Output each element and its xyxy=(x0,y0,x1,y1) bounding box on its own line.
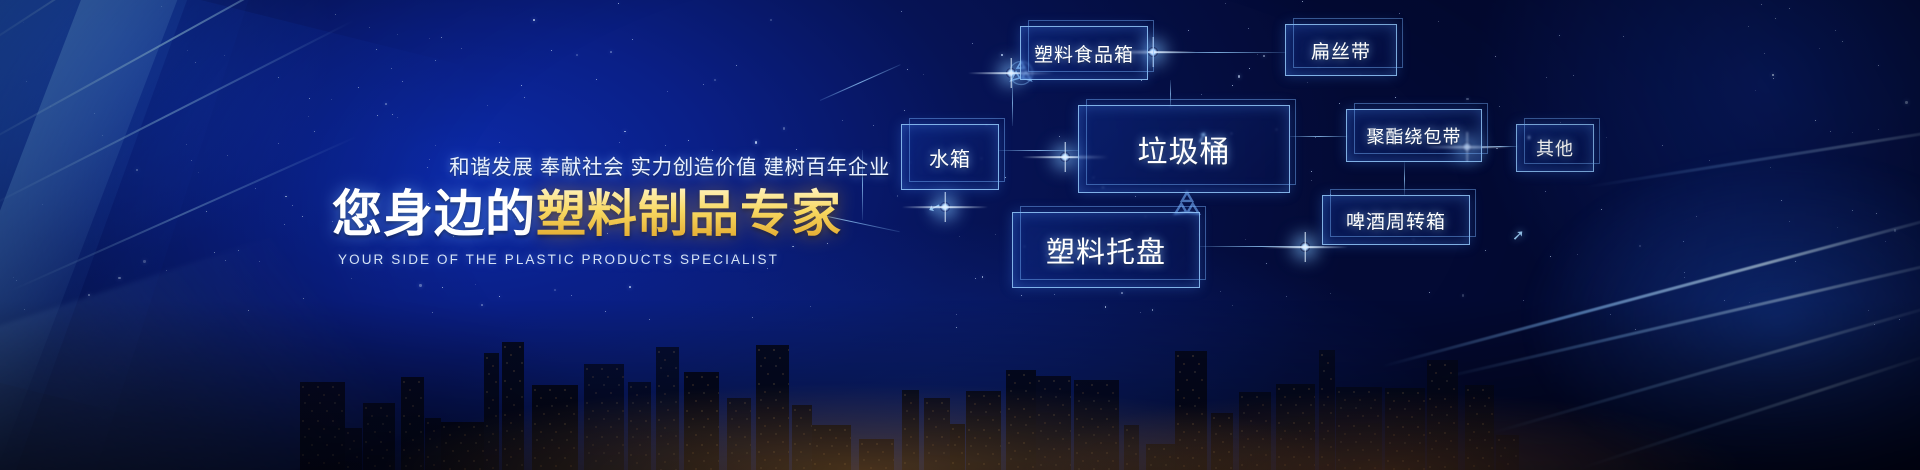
headline-gold-part: 塑料制品专家 xyxy=(536,186,842,242)
hero-text-block: 和谐发展 奉献社会 实力创造价值 建树百年企业 您身边的塑料制品专家 YOUR … xyxy=(332,150,892,267)
subtitle-english: YOUR SIDE OF THE PLASTIC PRODUCTS SPECIA… xyxy=(332,252,892,267)
vignette-overlay xyxy=(0,0,1920,470)
tagline: 和谐发展 奉献社会 实力创造价值 建树百年企业 xyxy=(332,150,892,180)
hero-banner: ➚ ➚ ➚ 塑料食品箱扁丝带水箱垃圾桶聚酯绕包带其他啤酒周转箱塑料托盘 和谐发展… xyxy=(0,0,1920,470)
page-title: 您身边的塑料制品专家 xyxy=(332,186,892,242)
headline-white-part: 您身边的 xyxy=(332,186,536,242)
